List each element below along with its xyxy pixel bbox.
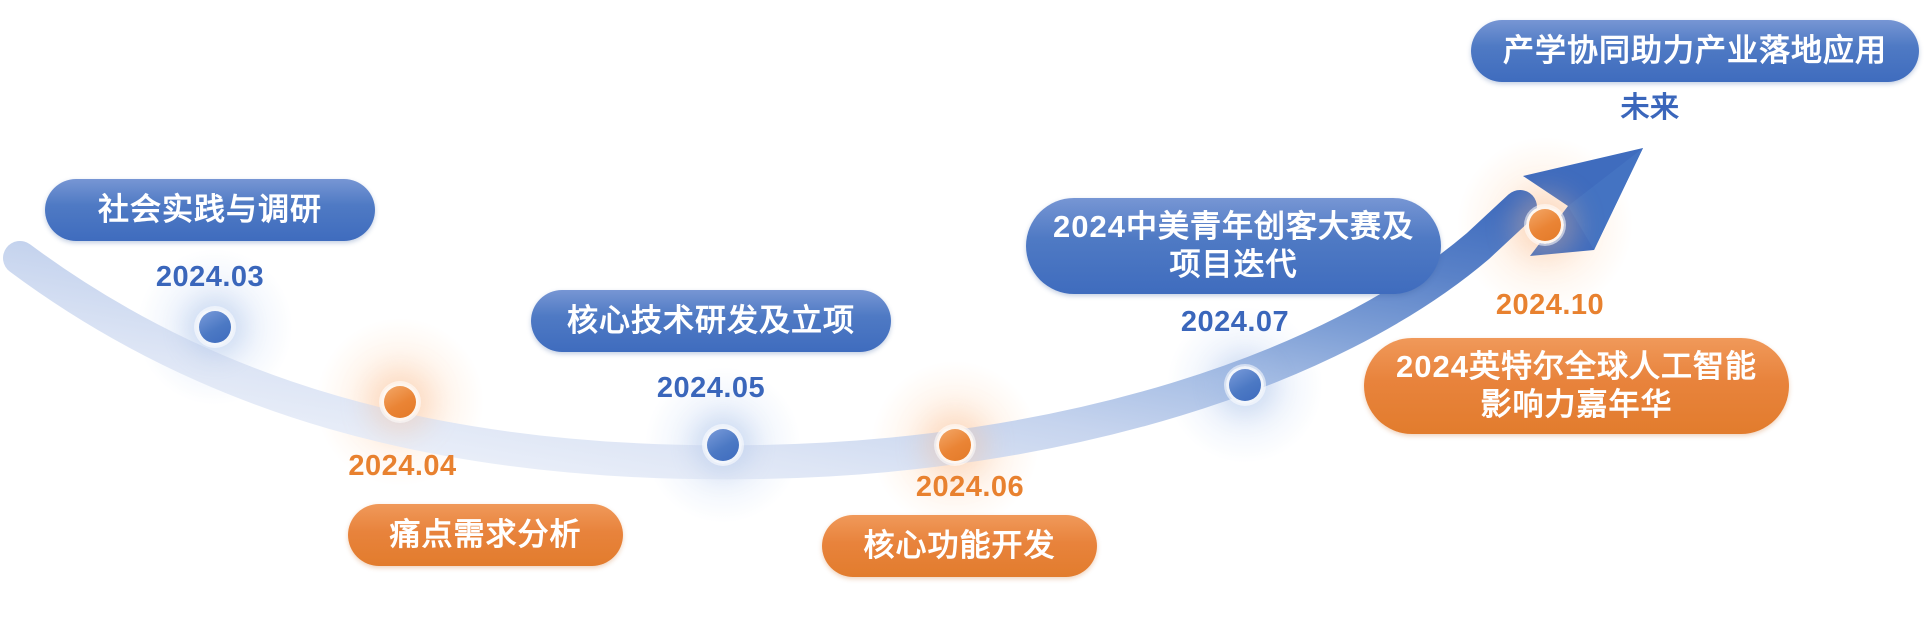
milestone-label-m3[interactable]: 核心技术研发及立项 xyxy=(531,290,891,352)
milestone-dot-m3[interactable] xyxy=(704,426,742,464)
milestone-date-m2: 2024.04 xyxy=(260,450,545,483)
milestone-label-m5[interactable]: 2024中美青年创客大赛及 项目迭代 xyxy=(1026,198,1441,294)
milestone-date-m3: 2024.05 xyxy=(556,372,866,405)
milestone-dot-m2[interactable] xyxy=(381,383,419,421)
milestone-label-m1[interactable]: 社会实践与调研 xyxy=(45,179,375,241)
milestone-date-m7: 未来 xyxy=(1500,84,1800,126)
milestone-date-m4: 2024.06 xyxy=(825,471,1115,504)
timeline-diagram: 社会实践与调研 2024.03 2024.04 痛点需求分析 核心技术研发及立项… xyxy=(0,0,1927,618)
milestone-label-m4[interactable]: 核心功能开发 xyxy=(822,515,1097,577)
milestone-dot-m5[interactable] xyxy=(1226,366,1264,404)
milestone-label-m2[interactable]: 痛点需求分析 xyxy=(348,504,623,566)
milestone-label-m7[interactable]: 产学协同助力产业落地应用 xyxy=(1471,20,1919,82)
milestone-dot-m4[interactable] xyxy=(936,426,974,464)
milestone-dot-m6[interactable] xyxy=(1526,206,1564,244)
milestone-dot-m1[interactable] xyxy=(196,308,234,346)
milestone-date-m1: 2024.03 xyxy=(65,261,355,294)
milestone-label-m6[interactable]: 2024英特尔全球人工智能 影响力嘉年华 xyxy=(1364,338,1789,434)
milestone-date-m6: 2024.10 xyxy=(1340,289,1760,322)
